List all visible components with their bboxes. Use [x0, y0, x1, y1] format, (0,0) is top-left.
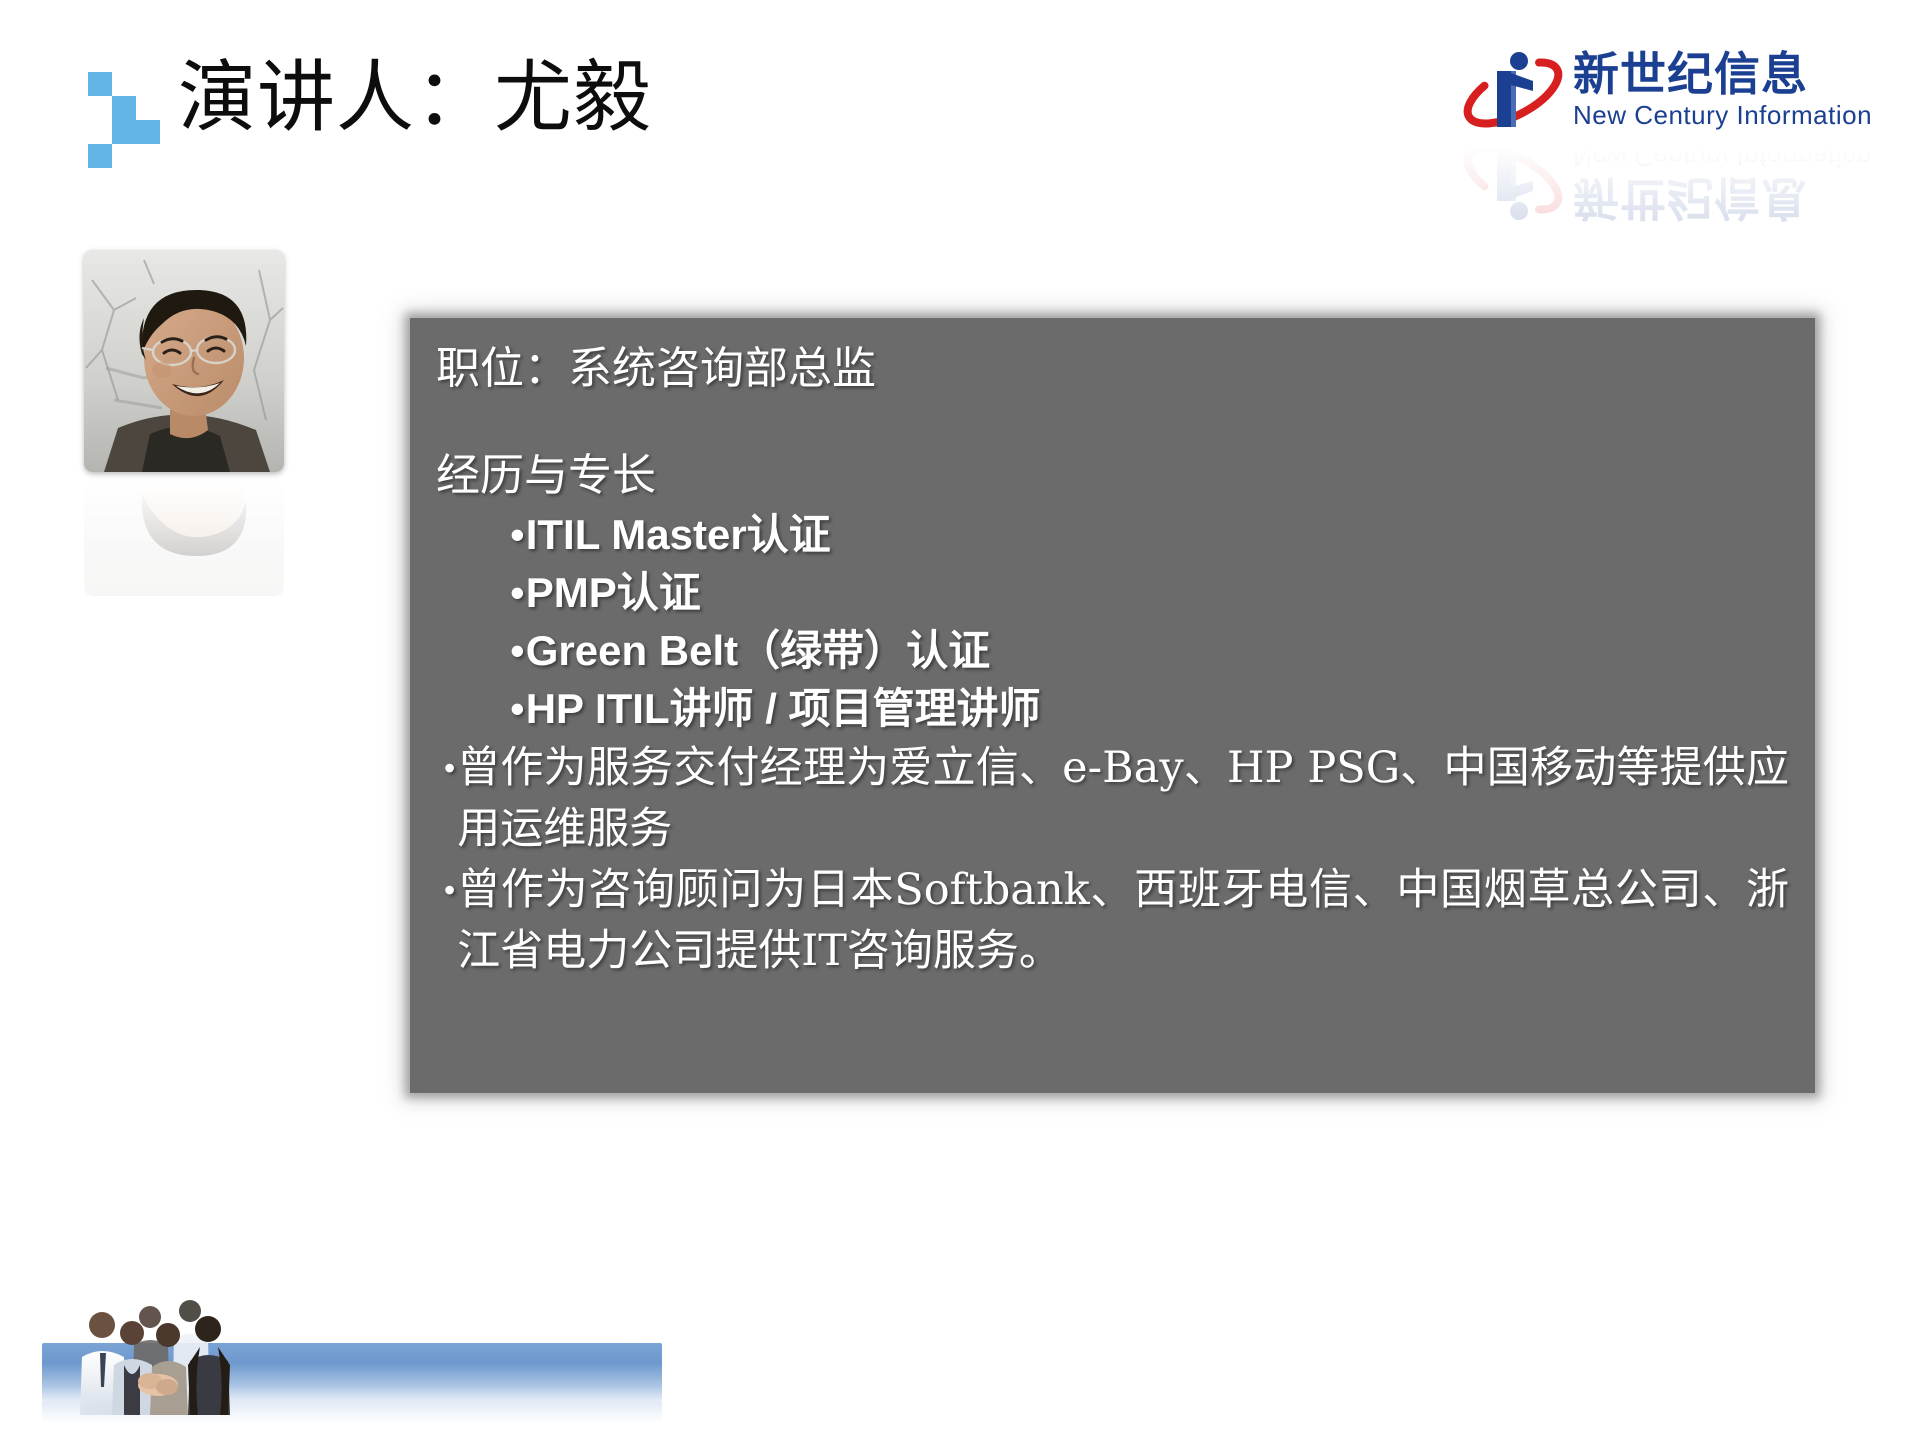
bullet-icon: •	[510, 622, 525, 680]
list-item: • HP ITIL讲师 / 项目管理讲师	[436, 680, 1789, 738]
certification-label: PMP认证	[526, 564, 701, 622]
bullet-icon: •	[510, 506, 525, 564]
logo-chinese-name: 新世纪信息	[1573, 48, 1872, 100]
new-century-person-orbit-icon	[1457, 43, 1569, 135]
logo-main: 新世纪信息 New Century Information	[1457, 40, 1877, 138]
certification-label: HP ITIL讲师 / 项目管理讲师	[526, 680, 1041, 738]
speaker-portrait-block	[84, 250, 284, 610]
logo-reflection-english: New Century Information	[1573, 142, 1872, 172]
list-item: • 曾作为服务交付经理为爱立信、e-Bay、HP PSG、中国移动等提供应用运维…	[436, 738, 1789, 860]
logo-reflection: 新世纪信息 New Century Information	[1457, 140, 1877, 232]
list-item: • 曾作为咨询顾问为日本Softbank、西班牙电信、中国烟草总公司、浙江省电力…	[436, 860, 1789, 982]
bullet-icon: •	[444, 860, 455, 921]
position-line: 职位：系统咨询部总监	[436, 340, 1789, 398]
slide-footer	[0, 1289, 1919, 1439]
speaker-portrait	[84, 250, 284, 472]
page-title: 演讲人：尤毅	[178, 48, 652, 148]
experience-heading: 经历与专长	[436, 446, 1789, 506]
slide-header: 演讲人：尤毅 新世纪信息 New Century Informat	[0, 0, 1919, 210]
bullet-icon: •	[510, 564, 525, 622]
bullet-icon: •	[510, 680, 525, 738]
bullet-icon: •	[444, 738, 455, 799]
panel-spacer	[436, 398, 1789, 446]
business-team-photo	[72, 1295, 302, 1415]
list-item: • Green Belt（绿带）认证	[436, 622, 1789, 680]
checker-arrow-icon	[88, 72, 160, 168]
logo-english-name: New Century Information	[1573, 100, 1872, 130]
certification-label: Green Belt（绿带）认证	[526, 622, 990, 680]
logo-wordmark: 新世纪信息 New Century Information	[1573, 48, 1872, 130]
certification-label: ITIL Master认证	[526, 506, 831, 564]
speaker-info-panel: 职位：系统咨询部总监 经历与专长 • ITIL Master认证 • PMP认证…	[410, 318, 1815, 1093]
portrait-reflection	[84, 476, 284, 596]
logo-reflection-chinese: 新世纪信息	[1573, 172, 1872, 224]
list-item: • ITIL Master认证	[436, 506, 1789, 564]
experience-paragraph: 曾作为服务交付经理为爱立信、e-Bay、HP PSG、中国移动等提供应用运维服务	[457, 738, 1789, 860]
list-item: • PMP认证	[436, 564, 1789, 622]
company-logo: 新世纪信息 New Century Information 新世纪信息	[1457, 40, 1877, 240]
experience-paragraph: 曾作为咨询顾问为日本Softbank、西班牙电信、中国烟草总公司、浙江省电力公司…	[457, 860, 1789, 982]
